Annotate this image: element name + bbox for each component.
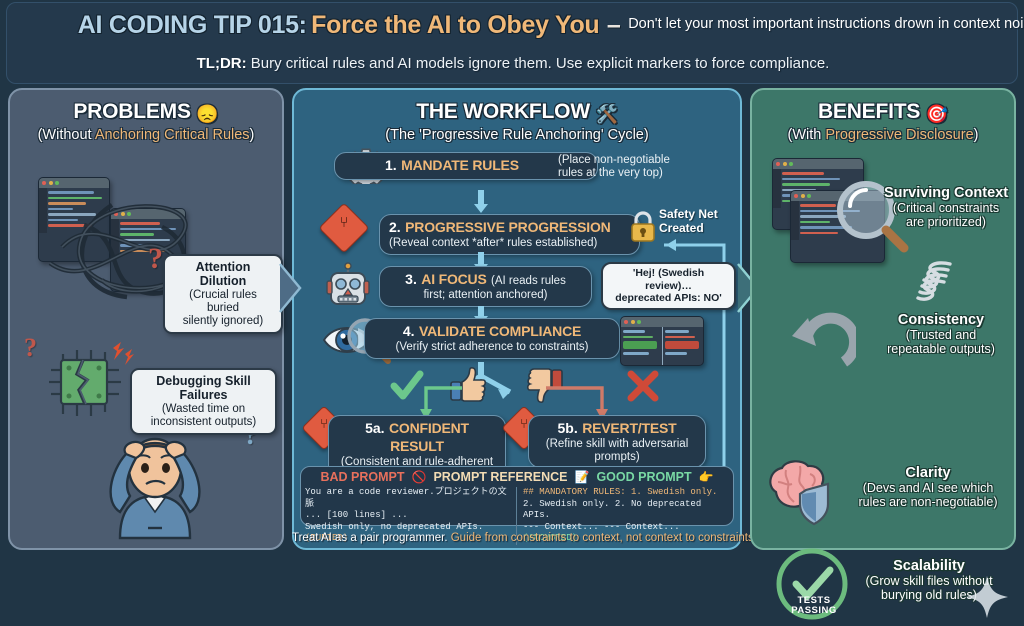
step-4-number: 4. <box>403 323 415 339</box>
step-3-number: 3. <box>405 271 417 287</box>
step-1-description: (Place non-negotiable rules at the very … <box>558 154 684 180</box>
undo-arrow-icon <box>786 308 856 370</box>
step-2-title: PROGRESSIVE PROGRESSION <box>405 219 610 235</box>
bad-prompt-line-2: ... [100 lines] ... <box>305 510 511 522</box>
footer-note: Treat AI as a pair programmer. Guide fro… <box>292 531 742 544</box>
step-3-desc-line2: first; attention anchored) <box>389 289 582 302</box>
benefits-subheading: (With Progressive Disclosure) <box>752 127 1014 143</box>
step-4-row: 4. VALIDATE COMPLIANCE <box>374 323 610 341</box>
benefit-title: Consistency <box>870 312 1012 328</box>
benefit-line1: (Devs and AI see which <box>852 481 1004 495</box>
line-number-gutter <box>773 169 781 208</box>
step-5b-description: (Refine skill with adversarial prompts) <box>538 438 696 463</box>
line-number-gutter <box>791 201 799 240</box>
tldr-text: Bury critical rules and AI models ignore… <box>247 55 830 72</box>
close-dot-icon <box>794 194 798 198</box>
benefit-surviving-context: Surviving Context (Critical constraints … <box>878 185 1014 230</box>
problems-subheading: (Without Anchoring Critical Rules) <box>10 127 282 143</box>
lock-icon <box>628 208 658 242</box>
git-branch-glyph: ⑂ <box>327 211 361 245</box>
callout-line1: (Crucial rules buried <box>172 289 274 315</box>
brain-shield-icon <box>764 456 844 528</box>
benefit-line2: repeatable outputs) <box>870 342 1012 356</box>
benefit-consistency: Consistency (Trusted and repeatable outp… <box>870 312 1012 357</box>
panel-problems: PROBLEMS 😞 (Without Anchoring Critical R… <box>8 88 284 550</box>
panel-benefits: BENEFITS 🎯 (With Progressive Disclosure) <box>750 88 1016 550</box>
pointing-finger-icon: 👉 <box>699 470 714 484</box>
good-prompt-line-2: 2. Swedish only. 2. No deprecated APIs. <box>523 499 729 522</box>
header-title-row: AI CODING TIP 015: Force the AI to Obey … <box>7 11 1019 40</box>
maximize-dot-icon <box>637 320 641 324</box>
step-3-title: AI FOCUS <box>421 271 486 287</box>
benefit-title: Clarity <box>852 465 1004 481</box>
step-5b-title: REVERT/TEST <box>582 420 676 436</box>
diff-view-window <box>620 316 704 366</box>
workflow-subheading: (The 'Progressive Rule Anchoring' Cycle) <box>294 127 740 143</box>
benefit-line1: (Critical constraints <box>878 201 1014 215</box>
safety-net-line2: Created <box>659 222 739 236</box>
step-1-desc-line1: (Place non-negotiable <box>558 154 684 167</box>
step-4-title: VALIDATE COMPLIANCE <box>419 323 581 339</box>
frustrated-developer-icon <box>90 420 220 540</box>
step-5a-number: 5a. <box>365 420 384 436</box>
maximize-dot-icon <box>807 194 811 198</box>
left-to-center-connector-icon <box>276 258 308 318</box>
callout-attention-dilution: Attention Dilution (Crucial rules buried… <box>163 254 283 334</box>
step-2-progressive-progression[interactable]: 2. PROGRESSIVE PROGRESSION (Reveal conte… <box>379 214 640 255</box>
robot-icon <box>326 262 370 310</box>
step-1-desc-line2: rules at the very top) <box>558 167 684 180</box>
good-prompt-line-1: ## MANDATORY RULES: 1. Swedish only. <box>523 487 729 499</box>
step-4-validate-compliance[interactable]: 4. VALIDATE COMPLIANCE (Verify strict ad… <box>364 318 620 359</box>
diff-pane-left <box>621 327 663 366</box>
prompt-reference-box: BAD PROMPT 🚫 PROMPT REFERENCE 📝 GOOD PRO… <box>300 466 734 526</box>
step-5b-number: 5b. <box>558 420 578 436</box>
workflow-heading: THE WORKFLOW 🛠️ <box>294 100 740 125</box>
step-1-number: 1. <box>385 157 397 173</box>
target-icon: 🎯 <box>926 104 948 124</box>
bad-prompt-line-1: You are a code reviewer.プロジェクトの文脈 <box>305 487 511 510</box>
header-title-highlight: Force the AI to Obey You <box>311 11 599 39</box>
benefits-heading-text: BENEFITS <box>818 100 920 123</box>
header-subtitle: Don't let your most important instructio… <box>628 16 948 33</box>
step-3-row: 3. AI FOCUS (AI reads rules <box>389 271 582 289</box>
close-dot-icon <box>624 320 628 324</box>
minimize-dot-icon <box>783 162 787 166</box>
tests-passing-label: TESTS PASSING <box>774 596 854 617</box>
step-5b-revert-test[interactable]: 5b. REVERT/TEST (Refine skill with adver… <box>528 415 706 468</box>
footer-text-highlight: Guide from constraints to context, not c… <box>451 532 757 544</box>
callout-title: Debugging Skill Failures <box>139 374 268 403</box>
step-4-description: (Verify strict adherence to constraints) <box>374 341 610 354</box>
diff-pane-right <box>663 327 704 366</box>
benefits-subheading-pre: (With <box>788 127 826 143</box>
step-5b-row: 5b. REVERT/TEST <box>538 420 696 438</box>
benefit-title: Scalability <box>850 558 1008 574</box>
question-mark-icon: ? <box>148 242 163 276</box>
maximize-dot-icon <box>789 162 793 166</box>
bad-prompt-label: BAD PROMPT <box>320 470 404 484</box>
tests-badge-line2: PASSING <box>774 606 854 616</box>
problems-subheading-highlight: Anchoring Critical Rules <box>95 127 250 143</box>
flow-arrow-down-icon <box>474 204 488 213</box>
header-tldr-row: TL;DR: Bury critical rules and AI models… <box>7 55 1019 73</box>
close-dot-icon <box>776 162 780 166</box>
diff-panes <box>621 327 703 366</box>
problems-heading-text: PROBLEMS <box>73 100 190 123</box>
window-titlebar <box>621 317 703 327</box>
minimize-dot-icon <box>631 320 635 324</box>
minimize-dot-icon <box>801 194 805 198</box>
question-mark-icon: ? <box>24 333 37 363</box>
sad-face-icon: 😞 <box>196 104 218 124</box>
step-3-desc-line1: (AI reads rules <box>491 275 566 287</box>
safety-net-label: Safety Net Created <box>659 208 739 236</box>
ai-speech-line2: deprecated APIs: NO' <box>609 292 728 305</box>
window-titlebar <box>773 159 863 169</box>
tests-badge-line1: TESTS <box>774 596 854 606</box>
step-2-row: 2. PROGRESSIVE PROGRESSION <box>389 219 630 237</box>
infographic-root: AI CODING TIP 015: Force the AI to Obey … <box>0 0 1024 559</box>
benefit-clarity: Clarity (Devs and AI see which rules are… <box>852 465 1004 510</box>
header-dash: – <box>604 11 624 39</box>
ai-speech-bubble: 'Hej! (Swedish review)… deprecated APIs:… <box>601 262 736 310</box>
memo-icon: 📝 <box>574 470 589 484</box>
prompt-reference-header: BAD PROMPT 🚫 PROMPT REFERENCE 📝 GOOD PRO… <box>301 470 733 484</box>
callout-title: Attention Dilution <box>172 260 274 289</box>
step-1-title: MANDATE RULES <box>401 157 519 173</box>
callout-line2: silently ignored) <box>172 315 274 328</box>
benefits-subheading-post: ) <box>974 127 979 143</box>
broken-chip-icon <box>45 340 141 426</box>
prompt-reference-title: PROMPT REFERENCE <box>433 470 567 484</box>
problems-subheading-post: ) <box>250 127 255 143</box>
step-2-description: (Reveal context *after* rules establishe… <box>389 237 630 250</box>
step-5a-title: CONFIDENT RESULT <box>389 420 469 454</box>
sparkle-icon <box>964 574 1010 620</box>
git-branch-icon: ⑂ <box>319 203 370 254</box>
benefits-subheading-highlight: Progressive Disclosure <box>825 127 973 143</box>
benefits-heading: BENEFITS 🎯 <box>752 100 1014 125</box>
tldr-label: TL;DR: <box>197 55 247 72</box>
benefit-line2: rules are non-negotiable) <box>852 495 1004 509</box>
problems-heading: PROBLEMS 😞 <box>10 100 282 125</box>
workflow-heading-text: THE WORKFLOW <box>416 100 590 123</box>
spring-coil-icon <box>912 260 968 306</box>
benefit-line1: (Trusted and <box>870 328 1012 342</box>
tools-icon: 🛠️ <box>596 104 618 124</box>
step-2-number: 2. <box>389 219 401 235</box>
problems-subheading-pre: (Without <box>38 127 95 143</box>
footer-text-plain: Treat AI as a pair programmer. <box>292 532 451 544</box>
good-prompt-label: GOOD PROMPT <box>596 470 691 484</box>
benefit-line2: are prioritized) <box>878 215 1014 229</box>
ai-speech-line1: 'Hej! (Swedish review)… <box>609 267 728 292</box>
header-banner: AI CODING TIP 015: Force the AI to Obey … <box>6 2 1018 84</box>
step-3-ai-focus[interactable]: 3. AI FOCUS (AI reads rules first; atten… <box>379 266 592 307</box>
benefit-title: Surviving Context <box>878 185 1014 201</box>
callout-line1: (Wasted time on <box>139 403 268 416</box>
step-5a-row: 5a. CONFIDENT RESULT <box>338 420 496 456</box>
header-title-prefix: AI CODING TIP 015: <box>78 11 307 39</box>
prohibited-icon: 🚫 <box>411 470 426 484</box>
safety-net-line1: Safety Net <box>659 208 739 222</box>
